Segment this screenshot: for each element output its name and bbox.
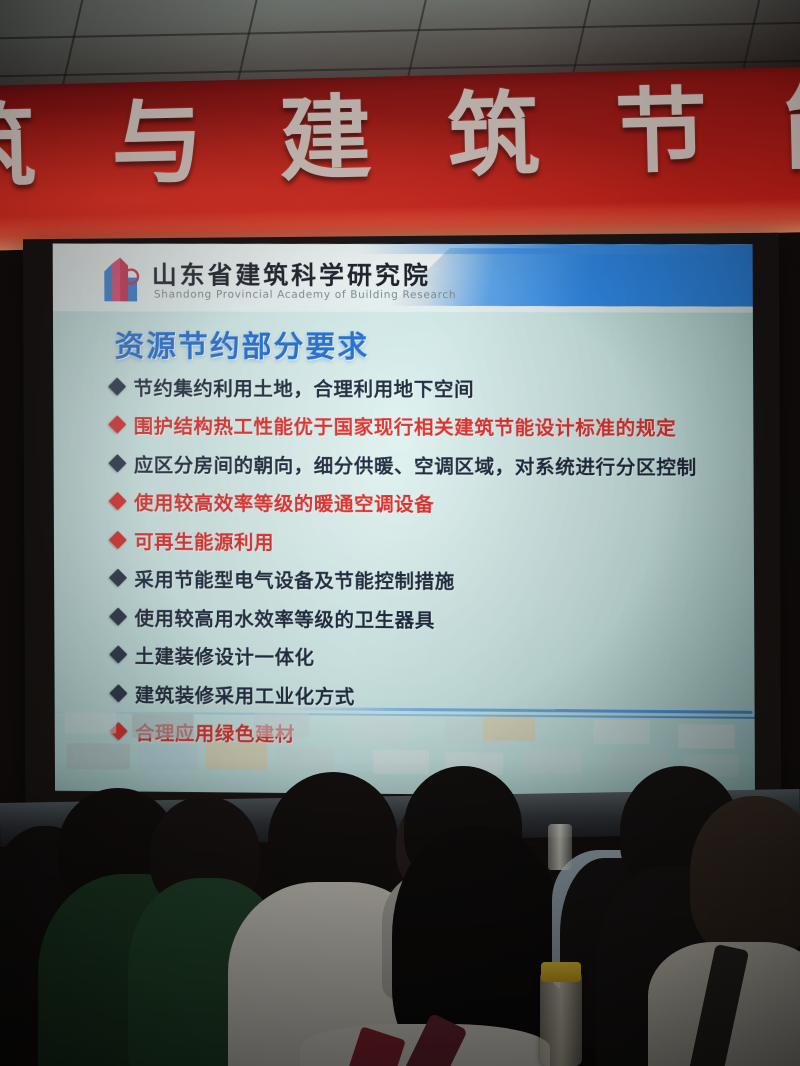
list-item: 使用较高效率等级的暖通空调设备 (111, 482, 752, 524)
bullet-text: 节约集约利用土地，合理利用地下空间 (133, 372, 474, 402)
bullet-list: 节约集约利用土地，合理利用地下空间 围护结构热工性能优于国家现行相关建筑节能设计… (111, 367, 753, 756)
water-bottle (540, 972, 582, 1066)
list-item: 可再生能源利用 (111, 520, 752, 562)
diamond-bullet-icon (109, 569, 127, 587)
list-item: 采用节能型电气设备及节能控制措施 (111, 559, 752, 601)
diamond-bullet-icon (108, 377, 126, 395)
list-item: 应区分房间的朝向，细分供暖、空调区域，对系统进行分区控制 (111, 444, 752, 485)
list-item: 节约集约利用土地，合理利用地下空间 (111, 367, 752, 408)
water-bottle-back (548, 824, 572, 870)
projection-screen-frame: 山东省建筑科学研究院 Shandong Provincial Academy o… (23, 233, 781, 812)
building-logo-icon (98, 256, 142, 302)
venue-banner: 筑 与 建 筑 节 能 发 展 (0, 66, 800, 251)
diamond-bullet-icon (108, 454, 126, 472)
org-name-cn: 山东省建筑科学研究院 (152, 256, 431, 292)
list-item: 使用较高用水效率等级的卫生器具 (112, 597, 753, 640)
diamond-bullet-icon (109, 607, 127, 625)
bullet-text: 采用节能型电气设备及节能控制措施 (134, 564, 455, 595)
list-item: 土建装修设计一体化 (112, 635, 753, 678)
conference-photo: 筑 与 建 筑 节 能 发 展 山东省建筑科学研究院 (0, 0, 800, 1066)
venue-banner-text: 筑 与 建 筑 节 能 发 展 (0, 82, 800, 194)
audience-person (690, 796, 800, 956)
audience (0, 766, 800, 1066)
bullet-text: 应区分房间的朝向，细分供暖、空调区域，对系统进行分区控制 (134, 449, 697, 480)
slide-title: 资源节约部分要求 (114, 321, 369, 366)
org-name-en: Shandong Provincial Academy of Building … (154, 289, 456, 302)
bullet-text: 使用较高效率等级的暖通空调设备 (134, 487, 435, 517)
bullet-text: 可再生能源利用 (134, 525, 274, 555)
bullet-text: 土建装修设计一体化 (135, 640, 315, 670)
projection-screen: 山东省建筑科学研究院 Shandong Provincial Academy o… (53, 244, 755, 798)
bullet-text: 使用较高用水效率等级的卫生器具 (134, 602, 435, 633)
header-top-rule (53, 244, 753, 255)
slide-header: 山东省建筑科学研究院 Shandong Provincial Academy o… (53, 244, 753, 313)
bottle-cap-icon (541, 962, 581, 982)
diamond-bullet-icon (109, 646, 127, 664)
bullet-text: 围护结构热工性能优于国家现行相关建筑节能设计标准的规定 (134, 410, 677, 441)
list-item: 围护结构热工性能优于国家现行相关建筑节能设计标准的规定 (111, 405, 752, 446)
diamond-bullet-icon (109, 531, 127, 549)
diamond-bullet-icon (109, 492, 127, 510)
diamond-bullet-icon (108, 416, 126, 434)
